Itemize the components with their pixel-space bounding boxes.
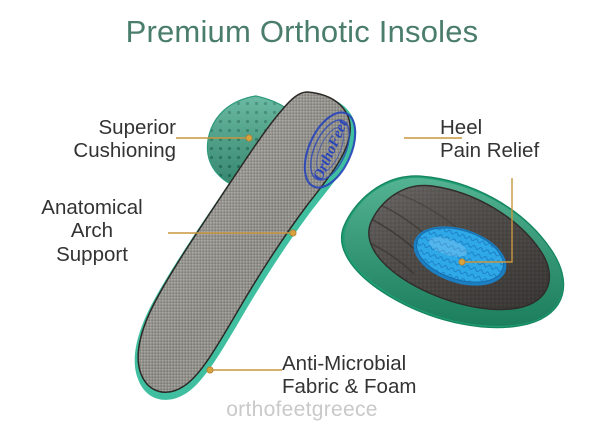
callout-superior-cushioning: Superior Cushioning [8, 116, 176, 163]
callout-anatomical-arch-support: Anatomical Arch Support [8, 196, 176, 266]
page-title: Premium Orthotic Insoles [0, 14, 604, 50]
back-insole-underside [330, 170, 580, 335]
callout-heel-pain-relief: Heel Pain Relief [440, 116, 600, 163]
site-watermark: orthofeetgreece [0, 398, 604, 422]
product-infographic: OrthoFeet Premium Orthotic Insoles Super… [0, 0, 604, 427]
callout-anti-microbial-fabric-foam: Anti-Microbial Fabric & Foam [282, 352, 532, 399]
